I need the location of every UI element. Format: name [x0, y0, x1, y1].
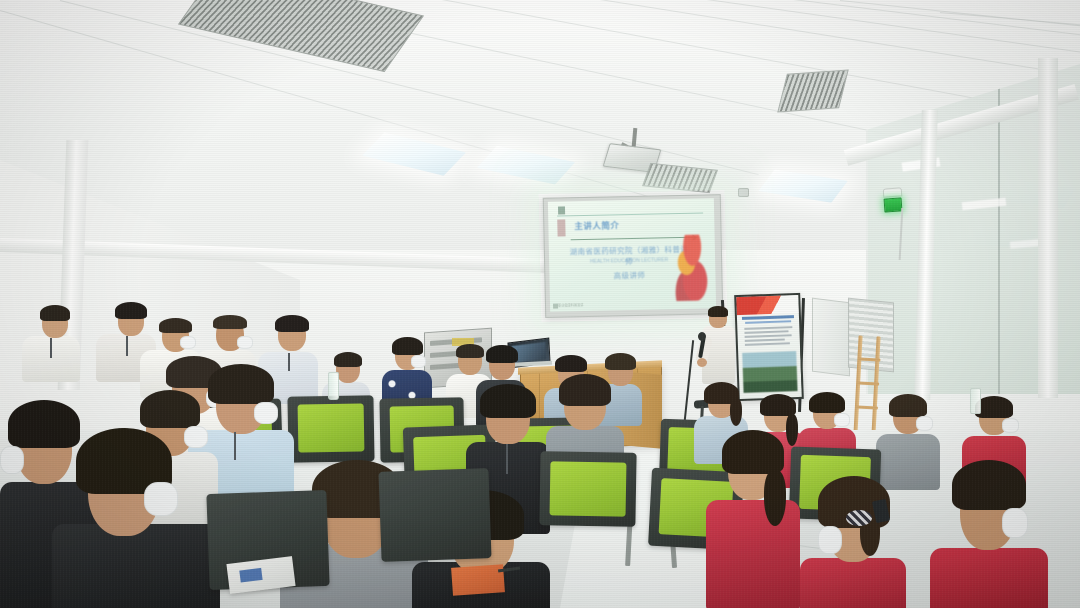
air-conditioner-unit: [812, 298, 850, 377]
partition-post: [1038, 58, 1058, 398]
slide-accent-block: [557, 219, 565, 236]
projection-screen: 主讲人简介 湖南省医药研究院（湘雅）科普讲师 HEALTH EDUCATION …: [548, 198, 716, 311]
audience-member-foreground: [52, 440, 222, 608]
water-bottle[interactable]: [970, 388, 981, 414]
audience-member-foreground: [930, 470, 1050, 608]
office-chair[interactable]: [378, 468, 491, 562]
office-chair-mesh: [298, 403, 365, 452]
emergency-light-icon: [883, 187, 903, 197]
slide-mascot-icon: [667, 234, 714, 301]
slide-logo-icon: [558, 206, 565, 214]
slide-title: 主讲人简介: [574, 219, 619, 232]
presenter-hair: [708, 306, 728, 317]
slide-footer-text: 职业健康科普宣讲: [558, 302, 584, 308]
seminar-room-photo: 主讲人简介 湖南省医药研究院（湘雅）科普讲师 HEALTH EDUCATION …: [0, 0, 1080, 608]
microphone-head-icon: [698, 332, 706, 341]
poster-headline-bar: [742, 315, 794, 320]
water-bottle[interactable]: [328, 372, 339, 400]
emergency-exit-sign-icon: [884, 197, 903, 212]
office-chair-mesh: [550, 461, 627, 516]
poster-subheadline-bar: [745, 320, 791, 324]
presenter-hand: [697, 358, 707, 367]
audience-member-foreground: [800, 486, 908, 608]
notebook-cover-label: [239, 568, 262, 583]
poster-banner-header: [736, 295, 799, 315]
ceiling-air-vent-secondary-icon: [777, 69, 849, 112]
slide-header-rule: [557, 205, 703, 217]
roll-up-poster: [734, 293, 804, 401]
hair-scrunchie: [846, 510, 872, 526]
poster-photo-icon: [742, 351, 797, 393]
audience-member: [22, 308, 82, 378]
audience-member-foreground: [706, 438, 802, 608]
smoke-detector-icon: [738, 188, 749, 197]
